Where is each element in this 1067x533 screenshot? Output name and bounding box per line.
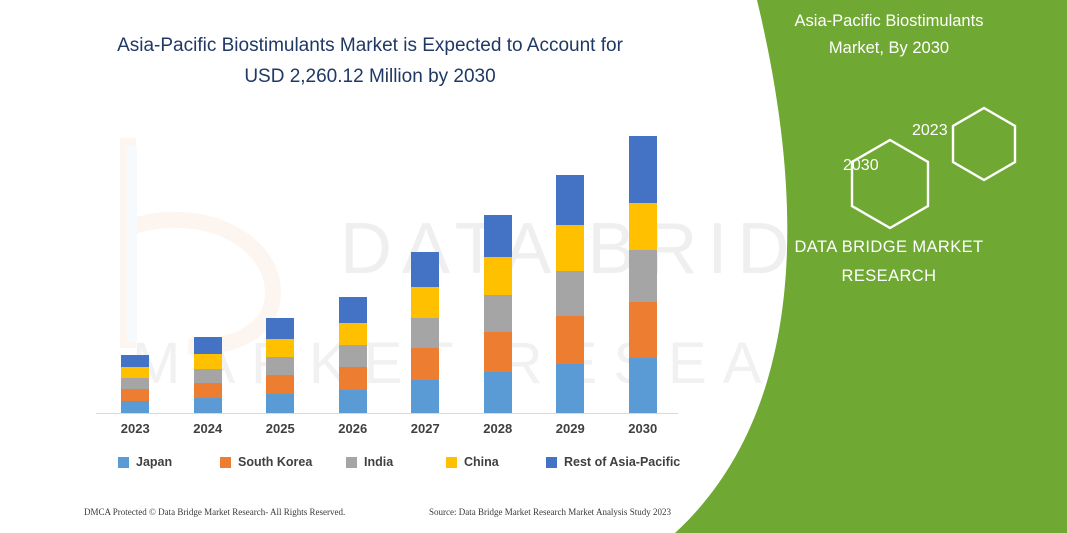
bar-segment-2024-south-korea bbox=[194, 383, 222, 398]
bar-segment-2024-india bbox=[194, 369, 222, 383]
x-label-2028: 2028 bbox=[468, 421, 528, 436]
bar-segment-2025-china bbox=[266, 339, 294, 357]
legend-swatch-icon bbox=[118, 457, 129, 468]
bar-segment-2027-china bbox=[411, 287, 439, 318]
hexagon-shapes-icon bbox=[787, 100, 1047, 230]
bar-2027[interactable] bbox=[411, 252, 439, 413]
footer-source: Source: Data Bridge Market Research Mark… bbox=[429, 507, 671, 517]
hexagon-2030-icon bbox=[852, 140, 928, 228]
bar-segment-2026-india bbox=[339, 345, 367, 367]
bar-segment-2026-south-korea bbox=[339, 367, 367, 390]
bar-segment-2025-japan bbox=[266, 394, 294, 413]
hexagon-2030-label: 2030 bbox=[843, 157, 879, 175]
hexagon-group: 2030 2023 bbox=[787, 100, 1047, 230]
bar-segment-2030-south-korea bbox=[629, 302, 657, 358]
bar-segment-2030-china bbox=[629, 203, 657, 250]
x-label-2025: 2025 bbox=[250, 421, 310, 436]
stacked-bar-chart: 20232024202520262027202820292030 JapanSo… bbox=[0, 0, 720, 533]
bar-segment-2028-south-korea bbox=[484, 332, 512, 372]
x-label-2029: 2029 bbox=[540, 421, 600, 436]
legend-label: China bbox=[464, 455, 499, 469]
bar-segment-2023-china bbox=[121, 367, 149, 378]
x-label-2026: 2026 bbox=[323, 421, 383, 436]
footer: DMCA Protected © Data Bridge Market Rese… bbox=[84, 507, 684, 523]
legend-item-china[interactable]: China bbox=[446, 455, 499, 469]
bar-segment-2024-china bbox=[194, 354, 222, 369]
bar-2030[interactable] bbox=[629, 136, 657, 413]
legend-label: India bbox=[364, 455, 393, 469]
bar-segment-2025-south-korea bbox=[266, 375, 294, 394]
bar-2026[interactable] bbox=[339, 297, 367, 413]
bar-2024[interactable] bbox=[194, 337, 222, 413]
bar-segment-2025-india bbox=[266, 357, 294, 375]
bar-segment-2029-rest-of-asia-pacific bbox=[556, 175, 584, 225]
bar-2023[interactable] bbox=[121, 355, 149, 413]
bar-2029[interactable] bbox=[556, 175, 584, 413]
brand-line2: RESEARCH bbox=[729, 262, 1049, 291]
hexagon-2023-label: 2023 bbox=[912, 122, 948, 140]
bar-segment-2026-japan bbox=[339, 390, 367, 413]
brand-name: DATA BRIDGE MARKET RESEARCH bbox=[729, 233, 1049, 291]
x-label-2024: 2024 bbox=[178, 421, 238, 436]
bar-segment-2024-rest-of-asia-pacific bbox=[194, 337, 222, 354]
bar-segment-2028-india bbox=[484, 295, 512, 332]
x-label-2023: 2023 bbox=[105, 421, 165, 436]
bar-segment-2023-japan bbox=[121, 401, 149, 413]
legend-swatch-icon bbox=[446, 457, 457, 468]
bar-segment-2027-south-korea bbox=[411, 348, 439, 380]
bar-segment-2027-rest-of-asia-pacific bbox=[411, 252, 439, 287]
bar-segment-2026-china bbox=[339, 323, 367, 345]
bar-segment-2028-japan bbox=[484, 372, 512, 413]
bar-segment-2023-rest-of-asia-pacific bbox=[121, 355, 149, 367]
chart-plot-area bbox=[96, 120, 676, 413]
bar-segment-2028-china bbox=[484, 257, 512, 295]
legend-label: Japan bbox=[136, 455, 172, 469]
legend-item-japan[interactable]: Japan bbox=[118, 455, 172, 469]
chart-legend: JapanSouth KoreaIndiaChinaRest of Asia-P… bbox=[96, 455, 676, 477]
bar-segment-2029-india bbox=[556, 271, 584, 316]
infographic-root: DATA BRIDGE MARKET RESEARCH Asia-Pacific… bbox=[0, 0, 1067, 533]
bar-segment-2027-india bbox=[411, 318, 439, 348]
bar-segment-2025-rest-of-asia-pacific bbox=[266, 318, 294, 339]
bar-segment-2027-japan bbox=[411, 380, 439, 413]
green-panel: Asia-Pacific Biostimulants Market, By 20… bbox=[667, 0, 1067, 533]
bar-segment-2029-japan bbox=[556, 364, 584, 413]
bar-segment-2030-japan bbox=[629, 358, 657, 413]
footer-copyright: DMCA Protected © Data Bridge Market Rese… bbox=[84, 507, 345, 517]
bar-2028[interactable] bbox=[484, 215, 512, 413]
legend-item-india[interactable]: India bbox=[346, 455, 393, 469]
bar-segment-2023-india bbox=[121, 378, 149, 389]
bar-segment-2029-south-korea bbox=[556, 316, 584, 364]
x-axis-line bbox=[96, 413, 678, 414]
bar-segment-2030-india bbox=[629, 250, 657, 302]
bar-segment-2028-rest-of-asia-pacific bbox=[484, 215, 512, 257]
hexagon-2023-icon bbox=[953, 108, 1015, 180]
bar-segment-2024-japan bbox=[194, 398, 222, 413]
bar-segment-2029-china bbox=[556, 225, 584, 271]
legend-swatch-icon bbox=[346, 457, 357, 468]
green-panel-title-line2: Market, By 2030 bbox=[729, 35, 1049, 62]
x-axis-labels: 20232024202520262027202820292030 bbox=[96, 421, 676, 443]
bar-segment-2023-south-korea bbox=[121, 389, 149, 401]
legend-label: South Korea bbox=[238, 455, 312, 469]
bar-segment-2026-rest-of-asia-pacific bbox=[339, 297, 367, 323]
x-label-2027: 2027 bbox=[395, 421, 455, 436]
brand-line1: DATA BRIDGE MARKET bbox=[729, 233, 1049, 262]
legend-label: Rest of Asia-Pacific bbox=[564, 455, 680, 469]
green-panel-title-line1: Asia-Pacific Biostimulants bbox=[729, 8, 1049, 35]
legend-item-rest-of-asia-pacific[interactable]: Rest of Asia-Pacific bbox=[546, 455, 680, 469]
legend-swatch-icon bbox=[546, 457, 557, 468]
legend-item-south-korea[interactable]: South Korea bbox=[220, 455, 312, 469]
bar-2025[interactable] bbox=[266, 318, 294, 413]
bar-segment-2030-rest-of-asia-pacific bbox=[629, 136, 657, 203]
legend-swatch-icon bbox=[220, 457, 231, 468]
green-panel-title: Asia-Pacific Biostimulants Market, By 20… bbox=[729, 8, 1049, 62]
x-label-2030: 2030 bbox=[613, 421, 673, 436]
